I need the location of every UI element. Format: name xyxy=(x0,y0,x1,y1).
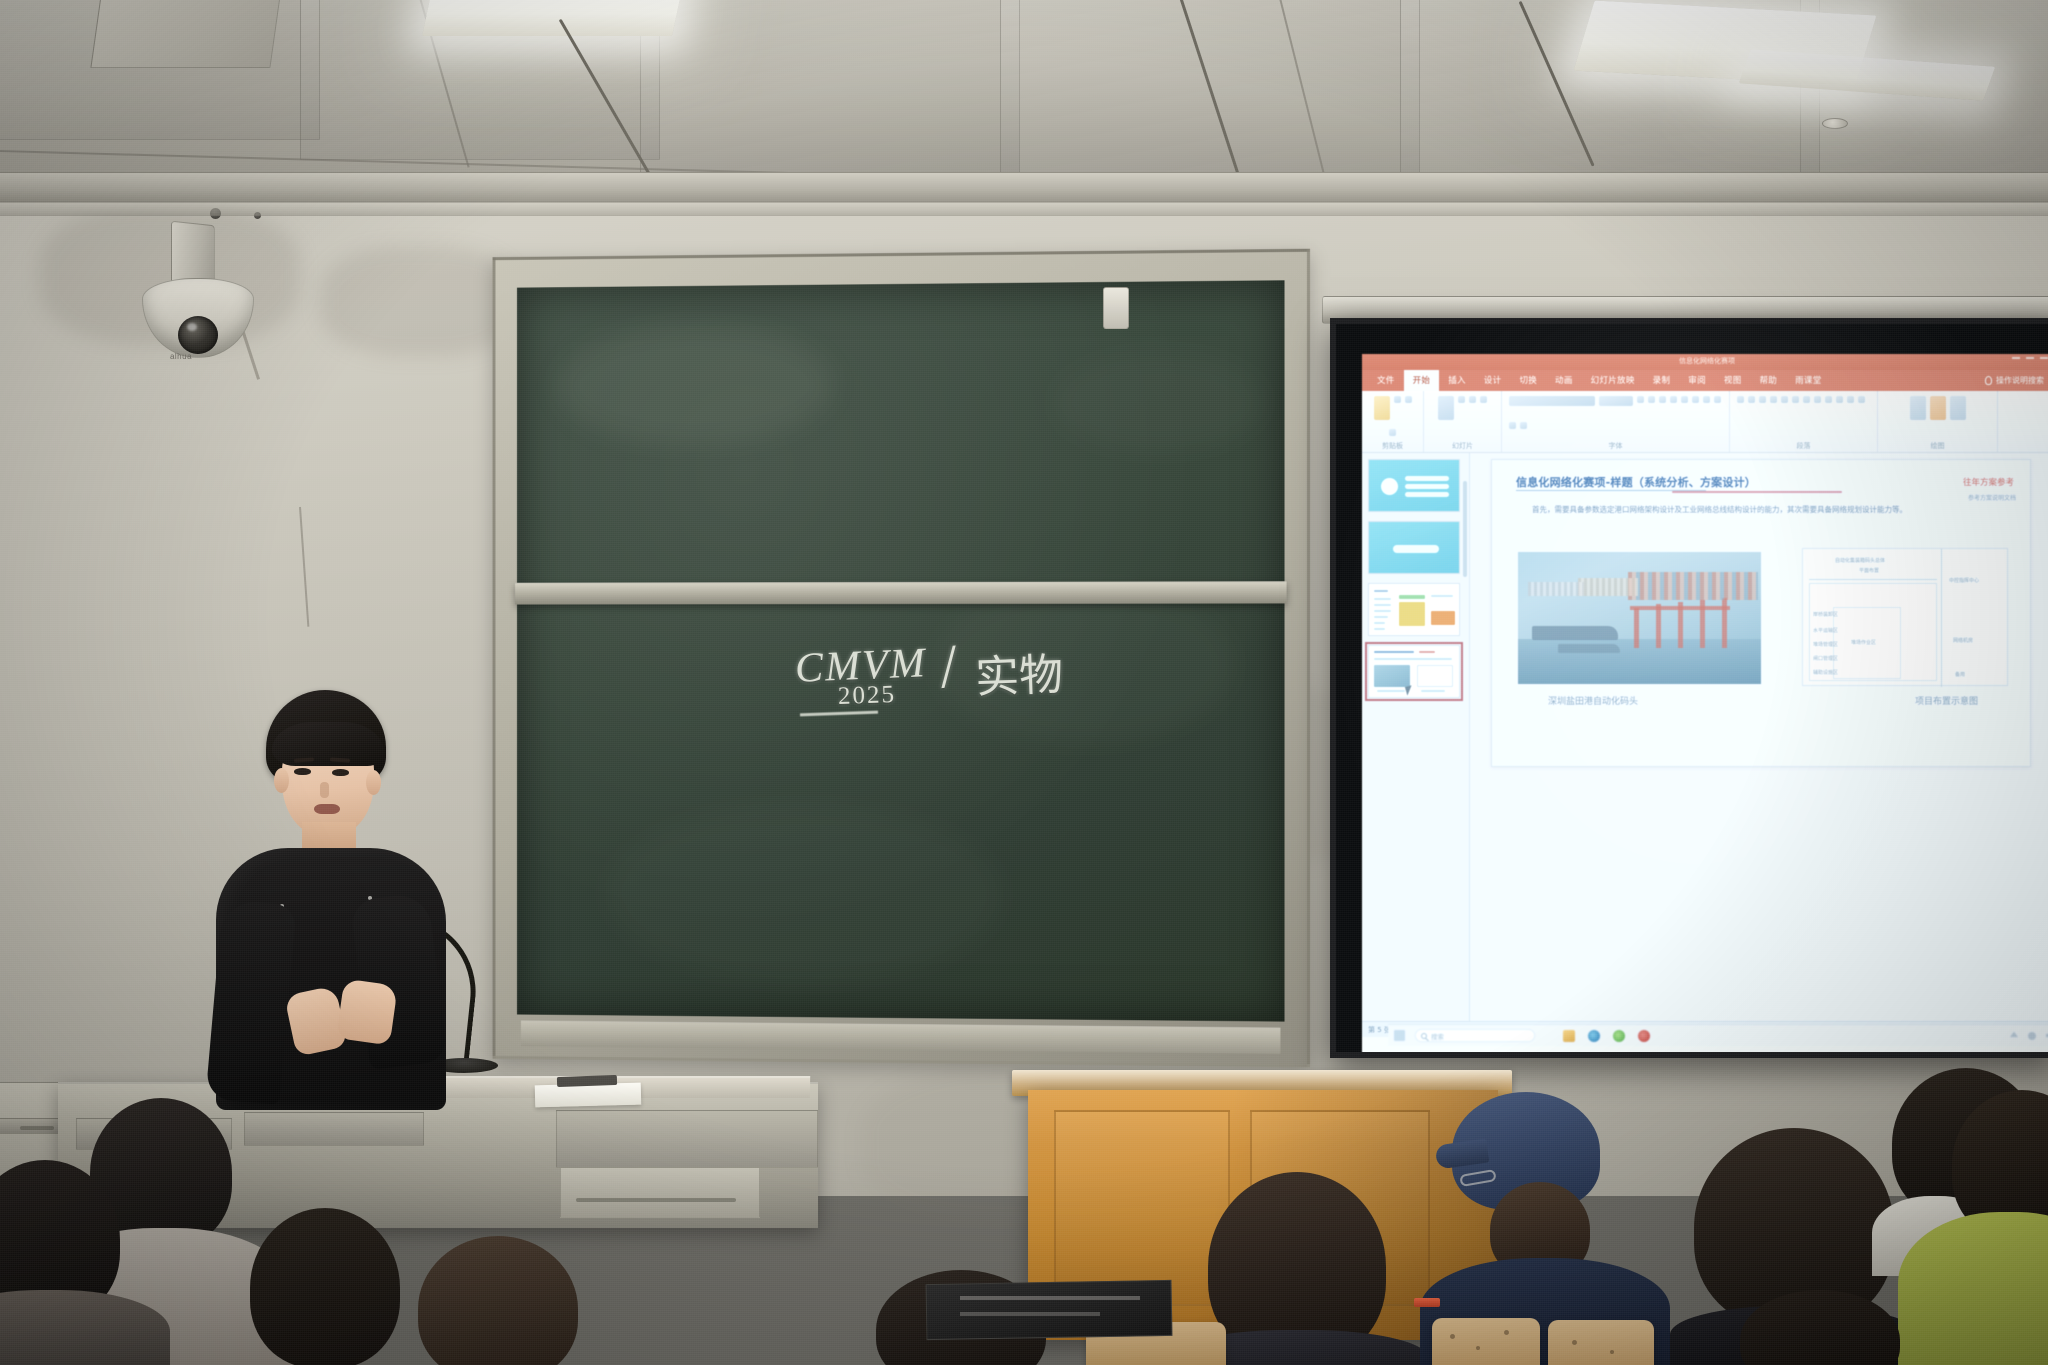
align-right-icon[interactable] xyxy=(1814,396,1821,403)
ceiling-light-1 xyxy=(422,0,684,36)
section-icon[interactable] xyxy=(1480,396,1487,403)
shadow-icon[interactable] xyxy=(1714,396,1721,403)
align-left-icon[interactable] xyxy=(1792,396,1799,403)
thumbnail-scrollbar[interactable] xyxy=(1463,481,1467,577)
foreground-board-text-2 xyxy=(960,1312,1100,1316)
tab-transitions[interactable]: 切换 xyxy=(1510,370,1546,391)
font-name-box[interactable] xyxy=(1509,396,1595,406)
desk-panel-mid xyxy=(244,1112,424,1146)
edge-browser-icon[interactable] xyxy=(1588,1030,1600,1042)
projection-screen: 信息化网络化赛项 文件 开始 插入 设计 切换 动画 幻灯片放映 录制 审阅 视… xyxy=(1330,318,2048,1058)
presenter-fringe xyxy=(272,722,384,766)
camera-lens-icon xyxy=(178,316,218,354)
desk-side-panel xyxy=(556,1110,818,1168)
foreground-board-text xyxy=(960,1296,1140,1300)
presenter-nose xyxy=(320,782,329,798)
group-label-drawing: 绘图 xyxy=(1931,441,1945,451)
tab-insert[interactable]: 插入 xyxy=(1439,370,1475,391)
columns-icon[interactable] xyxy=(1836,396,1843,403)
blackboard xyxy=(493,249,1310,1068)
thumbnail-slide-2[interactable] xyxy=(1368,521,1460,574)
thumbnail-slide-1[interactable] xyxy=(1368,459,1460,512)
ribbon-body[interactable]: 剪贴板 幻灯片 xyxy=(1362,391,2048,453)
close-icon[interactable] xyxy=(2040,357,2048,359)
smoke-detector-icon xyxy=(1822,118,1848,129)
slide-caption-left: 深圳盐田港自动化码头 xyxy=(1548,694,1638,707)
format-painter-icon[interactable] xyxy=(1389,429,1396,436)
tab-design[interactable]: 设计 xyxy=(1475,370,1511,391)
thumbnail-slide-3[interactable] xyxy=(1368,583,1460,636)
chair-2 xyxy=(1548,1320,1654,1365)
taskbar-tray[interactable] xyxy=(2010,1032,2048,1040)
network-icon[interactable] xyxy=(2028,1032,2036,1040)
quick-styles-icon[interactable] xyxy=(1950,396,1966,420)
thumbnail-item-4[interactable] xyxy=(1368,645,1464,698)
ribbon-group-drawing[interactable]: 绘图 xyxy=(1878,391,1998,452)
slide-body-text: 首先，需要具备参数选定港口网络架构设计及工业网络总线结构设计的能力，其次需要具备… xyxy=(1518,504,2006,516)
audience-head-3 xyxy=(250,1208,400,1365)
text-direction-icon[interactable] xyxy=(1847,396,1854,403)
increase-font-icon[interactable] xyxy=(1637,396,1644,403)
paper-sheet xyxy=(535,1083,642,1108)
strikethrough-icon[interactable] xyxy=(1703,396,1710,403)
font-color-icon[interactable] xyxy=(1520,422,1527,429)
clear-format-icon[interactable] xyxy=(1659,396,1666,403)
window-controls[interactable] xyxy=(2012,357,2048,359)
decrease-font-icon[interactable] xyxy=(1648,396,1655,403)
bullets-icon[interactable] xyxy=(1737,396,1744,403)
group-label-paragraph: 段落 xyxy=(1797,441,1811,451)
chevron-up-icon[interactable] xyxy=(2010,1032,2018,1040)
chair-1 xyxy=(1432,1318,1540,1365)
italic-icon[interactable] xyxy=(1681,396,1688,403)
ribbon-group-clipboard[interactable]: 剪贴板 xyxy=(1362,391,1424,452)
blackboard-surface xyxy=(517,280,1285,1021)
paste-icon[interactable] xyxy=(1374,396,1390,420)
ppt-window-title: 信息化网络化赛项 xyxy=(1679,356,1735,366)
cut-icon[interactable] xyxy=(1394,396,1401,403)
search-icon xyxy=(1421,1033,1427,1039)
screen-bracket xyxy=(1103,287,1129,329)
justify-icon[interactable] xyxy=(1825,396,1832,403)
audience-head-4 xyxy=(418,1236,578,1365)
remote-control[interactable] xyxy=(557,1075,617,1087)
group-label-slides: 幻灯片 xyxy=(1452,441,1473,451)
ceiling-vent-icon xyxy=(90,0,281,68)
slide-red-tag: 往年方案参考 xyxy=(1963,476,2014,488)
search-placeholder: 搜索 xyxy=(1431,1031,1444,1041)
layout-icon[interactable] xyxy=(1458,396,1465,403)
taskbar-search-input[interactable]: 搜索 xyxy=(1415,1029,1535,1042)
chalk-tray xyxy=(521,1020,1281,1053)
desk-drawer[interactable] xyxy=(560,1166,760,1218)
ppt-workspace: 信息化网络化赛项-样题（系统分析、方案设计） 往年方案参考 参考方案说明文档 首… xyxy=(1362,453,2048,1021)
new-slide-icon[interactable] xyxy=(1438,396,1454,420)
tab-file[interactable]: 文件 xyxy=(1368,370,1404,391)
tab-rain-classroom[interactable]: 雨课堂 xyxy=(1786,370,1830,391)
start-button-icon[interactable] xyxy=(1394,1030,1405,1041)
taskbar-app-icons[interactable] xyxy=(1563,1030,1650,1042)
presenter-right-hand xyxy=(336,979,398,1046)
tab-review[interactable]: 审阅 xyxy=(1679,370,1715,391)
ribbon-group-paragraph[interactable]: 段落 xyxy=(1730,391,1878,452)
presenter-mouth xyxy=(314,804,340,814)
tab-home[interactable]: 开始 xyxy=(1404,370,1440,391)
camera-brand-label: alhua xyxy=(155,352,207,361)
lightbulb-icon xyxy=(1985,376,1992,385)
tab-animations[interactable]: 动画 xyxy=(1546,370,1582,391)
slide-sub-tag: 参考方案说明文档 xyxy=(1968,493,2016,502)
blackboard-middle-rail xyxy=(515,581,1287,604)
tell-me-label: 操作说明搜索 xyxy=(1996,375,2044,386)
ppt-title-bar: 信息化网络化赛项 xyxy=(1362,354,2048,370)
slide-edit-area[interactable]: 信息化网络化赛项-样题（系统分析、方案设计） 往年方案参考 参考方案说明文档 首… xyxy=(1470,453,2048,1021)
copy-icon[interactable] xyxy=(1405,396,1412,403)
red-marker xyxy=(1414,1298,1440,1307)
minimize-icon[interactable] xyxy=(2012,357,2020,359)
underline-icon[interactable] xyxy=(1692,396,1699,403)
ribbon-group-font[interactable]: 字体 xyxy=(1502,391,1730,452)
increase-indent-icon[interactable] xyxy=(1770,396,1777,403)
maximize-icon[interactable] xyxy=(2026,357,2034,359)
decrease-indent-icon[interactable] xyxy=(1759,396,1766,403)
current-slide[interactable]: 信息化网络化赛项-样题（系统分析、方案设计） 往年方案参考 参考方案说明文档 首… xyxy=(1491,459,2031,767)
thumbnail-item-3[interactable] xyxy=(1368,583,1464,636)
numbering-icon[interactable] xyxy=(1748,396,1755,403)
ribbon-tab-bar[interactable]: 文件 开始 插入 设计 切换 动画 幻灯片放映 录制 审阅 视图 帮助 雨课堂 … xyxy=(1362,370,2048,391)
font-size-box[interactable] xyxy=(1599,396,1633,406)
line-spacing-icon[interactable] xyxy=(1781,396,1788,403)
align-center-icon[interactable] xyxy=(1803,396,1810,403)
thumbnail-slide-4-selected[interactable] xyxy=(1368,645,1460,698)
tab-help[interactable]: 帮助 xyxy=(1751,370,1787,391)
powerpoint-window: 信息化网络化赛项 文件 开始 插入 设计 切换 动画 幻灯片放映 录制 审阅 视… xyxy=(1362,354,2048,1054)
slide-title: 信息化网络化赛项-样题（系统分析、方案设计） xyxy=(1516,474,1756,490)
shapes-gallery-icon[interactable] xyxy=(1910,396,1926,420)
slide-title-underline xyxy=(1672,491,1842,493)
thumbnail-item-2[interactable] xyxy=(1368,521,1464,574)
windows-taskbar[interactable]: 搜索 xyxy=(1388,1024,2048,1046)
convert-smartart-icon[interactable] xyxy=(1858,396,1865,403)
group-label-font: 字体 xyxy=(1609,441,1623,451)
pdf-reader-icon[interactable] xyxy=(1638,1030,1650,1042)
ribbon-group-slides[interactable]: 幻灯片 xyxy=(1424,391,1502,452)
slide-port-photo xyxy=(1518,552,1761,684)
classroom-scene: alhua CMVM 2025 / 实物 信息化网络化赛项 xyxy=(0,0,2048,1365)
tab-slideshow[interactable]: 幻灯片放映 xyxy=(1582,370,1644,391)
file-explorer-icon[interactable] xyxy=(1563,1030,1575,1042)
tab-record[interactable]: 录制 xyxy=(1644,370,1680,391)
tab-view[interactable]: 视图 xyxy=(1715,370,1751,391)
slide-layout-diagram: 自动化集装箱码头总体 平面布置 堆场作业区 岸桥装卸区 水平运输区 堆场管理区 … xyxy=(1802,548,2008,686)
presenter-person xyxy=(210,690,510,1110)
arrange-icon[interactable] xyxy=(1930,396,1946,420)
bold-icon[interactable] xyxy=(1670,396,1677,403)
tell-me-search[interactable]: 操作说明搜索 xyxy=(1985,375,2044,386)
reset-icon[interactable] xyxy=(1469,396,1476,403)
slide-thumbnail-panel[interactable] xyxy=(1362,453,1470,1021)
slide-caption-right: 项目布置示意图 xyxy=(1915,694,1978,707)
group-label-clipboard: 剪贴板 xyxy=(1382,441,1403,451)
thumbnail-item-1[interactable] xyxy=(1368,459,1464,512)
foreground-board xyxy=(926,1280,1173,1340)
wechat-icon[interactable] xyxy=(1613,1030,1625,1042)
char-spacing-icon[interactable] xyxy=(1509,422,1516,429)
